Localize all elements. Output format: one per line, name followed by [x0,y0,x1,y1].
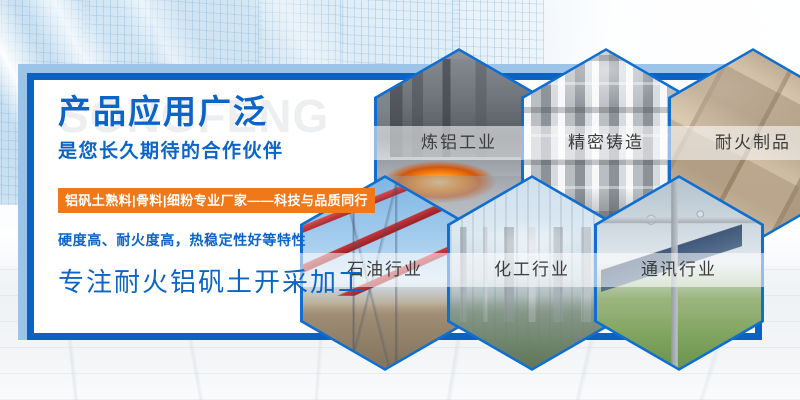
page-title: 产品应用广泛 [58,92,358,132]
hexagon-label: 精密铸造 [521,126,691,160]
product-application-banner: SONGFENG 产品应用广泛 是您长久期待的合作伙伴 铝矾土熟料|骨料|细粉专… [0,0,800,400]
page-subtitle: 是您长久期待的合作伙伴 [58,139,358,164]
focus-statement: 专注耐火铝矾土开采加工 [58,262,366,299]
hexagon-label: 耐火制品 [668,126,800,160]
feature-description: 硬度高、耐火度高，热稳定性好等特性 [58,230,306,250]
hexagon-label: 通讯行业 [594,253,764,287]
headline-block: SONGFENG 产品应用广泛 是您长久期待的合作伙伴 [58,92,358,164]
hexagon-label: 炼铝工业 [374,126,544,160]
hexagon-label: 化工行业 [447,253,617,287]
tagline-badge: 铝矾土熟料|骨料|细粉专业厂家——科技与品质同行 [58,188,375,213]
